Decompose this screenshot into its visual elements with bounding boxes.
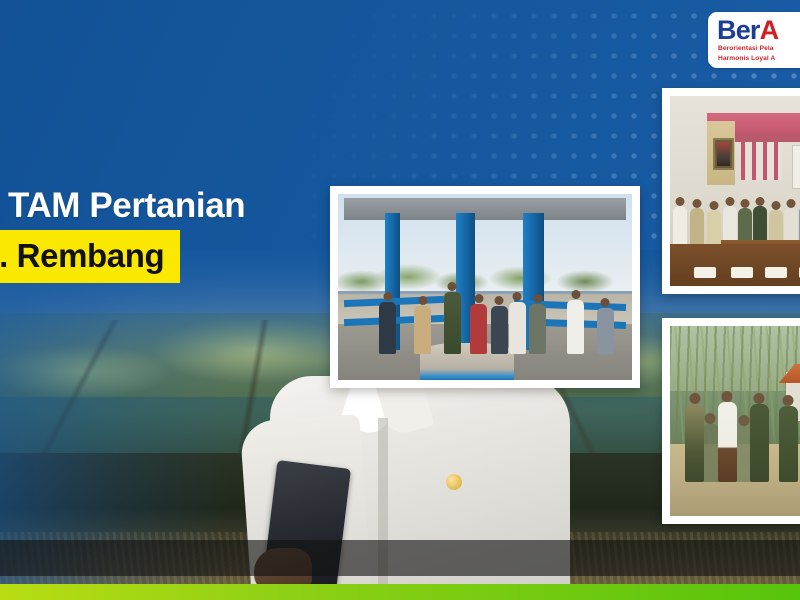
headline-secondary-line: Kab. Rembang [0,237,164,274]
poster-canvas: erja TAM Pertanian Kab. Rembang BerA Ber… [0,0,800,600]
meeting-striped-wall [741,142,782,180]
berakhlak-logo-prefix: Ber [717,15,760,45]
meeting-framed-portrait [713,138,734,171]
berakhlak-logo: BerA Berorientasi Pela Harmonis Loyal A [708,12,800,68]
sluice-person [444,292,461,354]
photo-meeting-room [670,96,800,286]
headline-block: erja TAM Pertanian Kab. Rembang [0,184,318,283]
field-person [750,404,769,482]
meeting-snack-boxes [670,256,800,279]
photo-card-sluice-gate [330,186,640,388]
berakhlak-logo-suffix: A [760,15,779,45]
photo-card-field-group [662,318,800,524]
meeting-snack-box [694,267,716,278]
photo-sluice-gate [338,194,632,380]
headline-highlight-box: Kab. Rembang [0,230,180,283]
photo-field-group [670,326,800,516]
lime-accent-bar [0,584,800,600]
sluice-person [529,304,546,354]
berakhlak-logo-wordmark: BerA [717,15,778,46]
meeting-snack-box [731,267,753,278]
sluice-person [491,306,508,354]
sluice-person [509,302,526,354]
dark-overlay-band [0,540,800,576]
meeting-whiteboard [792,145,800,189]
field-person [685,404,704,482]
hero-person-badge [446,474,462,490]
headline-primary-line: erja TAM Pertanian [0,184,318,228]
sluice-treeline [338,257,632,298]
berakhlak-logo-tagline-2: Harmonis Loyal A [718,55,775,62]
sluice-person [567,300,584,354]
field-person [779,406,798,482]
sluice-person [470,304,487,354]
sluice-person [414,306,431,354]
photo-card-meeting-room [662,88,800,294]
sluice-person [597,308,614,354]
meeting-snack-box [765,267,787,278]
field-person [718,402,737,482]
sluice-person [379,302,396,354]
berakhlak-logo-tagline-1: Berorientasi Pela [718,45,774,52]
